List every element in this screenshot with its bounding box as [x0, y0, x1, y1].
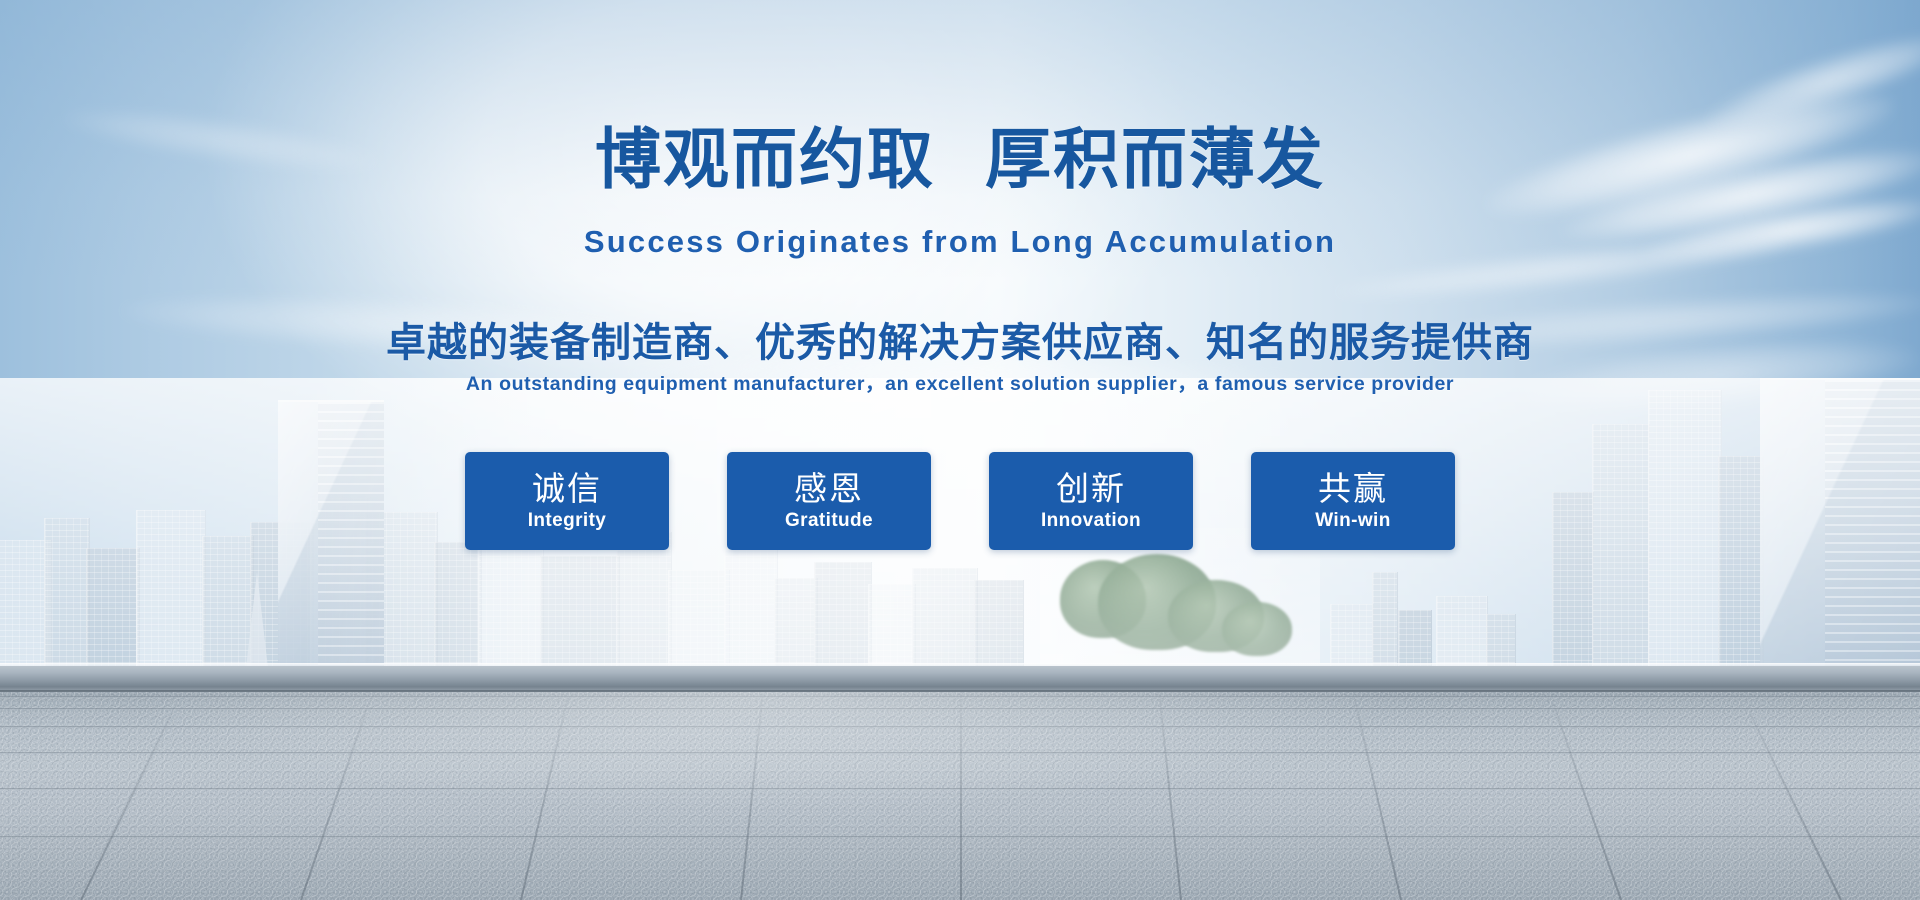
core-values-list: 诚信 Integrity 感恩 Gratitude 创新 Innovation …	[0, 452, 1920, 550]
value-card-integrity[interactable]: 诚信 Integrity	[465, 452, 669, 550]
value-card-label-cn: 共赢	[1318, 470, 1388, 509]
subheadline-english: An outstanding equipment manufacturer，an…	[0, 367, 1920, 396]
value-card-label-en: Gratitude	[785, 510, 873, 532]
value-card-label-en: Win-win	[1315, 510, 1390, 532]
value-card-label-cn: 感恩	[794, 470, 864, 509]
headline-english: Success Originates from Long Accumulatio…	[0, 224, 1920, 260]
value-card-gratitude[interactable]: 感恩 Gratitude	[727, 452, 931, 550]
hero-banner: 博观而约取 厚积而薄发 Success Originates from Long…	[0, 0, 1920, 900]
subheadline-chinese: 卓越的装备制造商、优秀的解决方案供应商、知名的服务提供商	[0, 310, 1920, 368]
value-card-label-cn: 诚信	[532, 470, 602, 509]
value-card-label-en: Innovation	[1041, 510, 1141, 532]
value-card-label-cn: 创新	[1056, 470, 1126, 509]
value-card-label-en: Integrity	[528, 510, 607, 532]
value-card-innovation[interactable]: 创新 Innovation	[989, 452, 1193, 550]
banner-content: 博观而约取 厚积而薄发 Success Originates from Long…	[0, 0, 1920, 900]
headline-chinese: 博观而约取 厚积而薄发	[0, 126, 1920, 193]
value-card-win-win[interactable]: 共赢 Win-win	[1251, 452, 1455, 550]
